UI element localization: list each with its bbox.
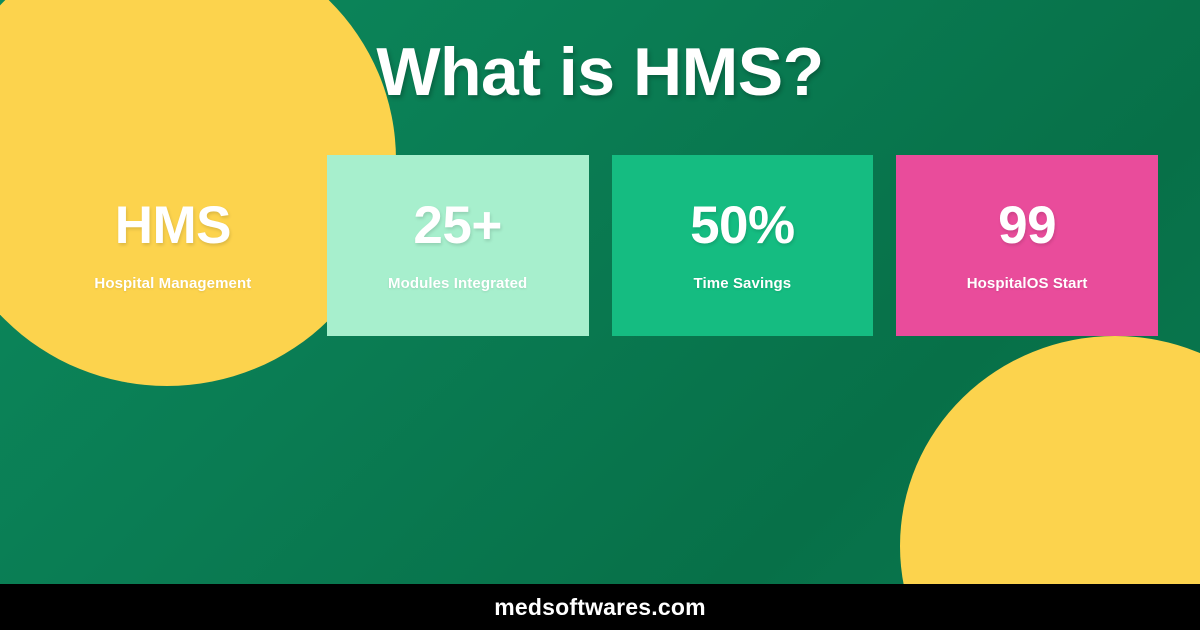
stat-value: 99 xyxy=(998,199,1056,252)
stat-label: Modules Integrated xyxy=(388,276,527,293)
stat-value: 25+ xyxy=(413,199,501,252)
slide-canvas: What is HMS? HMS Hospital Management 25+… xyxy=(0,0,1200,630)
footer-website: medsoftwares.com xyxy=(494,594,706,621)
stat-value: 50% xyxy=(690,199,795,252)
stat-card-modules: 25+ Modules Integrated xyxy=(327,155,589,336)
stat-label: HospitalOS Start xyxy=(967,276,1088,293)
page-title-container: What is HMS? xyxy=(0,38,1200,106)
stat-label: Hospital Management xyxy=(94,276,251,293)
footer-bar: medsoftwares.com xyxy=(0,584,1200,630)
stat-card-hospitalos-start: 99 HospitalOS Start xyxy=(896,155,1158,336)
stat-label: Time Savings xyxy=(694,276,792,293)
stat-value: HMS xyxy=(115,199,231,252)
stat-card-time-savings: 50% Time Savings xyxy=(612,155,874,336)
stats-row: HMS Hospital Management 25+ Modules Inte… xyxy=(42,155,1158,336)
page-title: What is HMS? xyxy=(376,38,823,106)
stat-card-hms: HMS Hospital Management xyxy=(42,155,304,336)
